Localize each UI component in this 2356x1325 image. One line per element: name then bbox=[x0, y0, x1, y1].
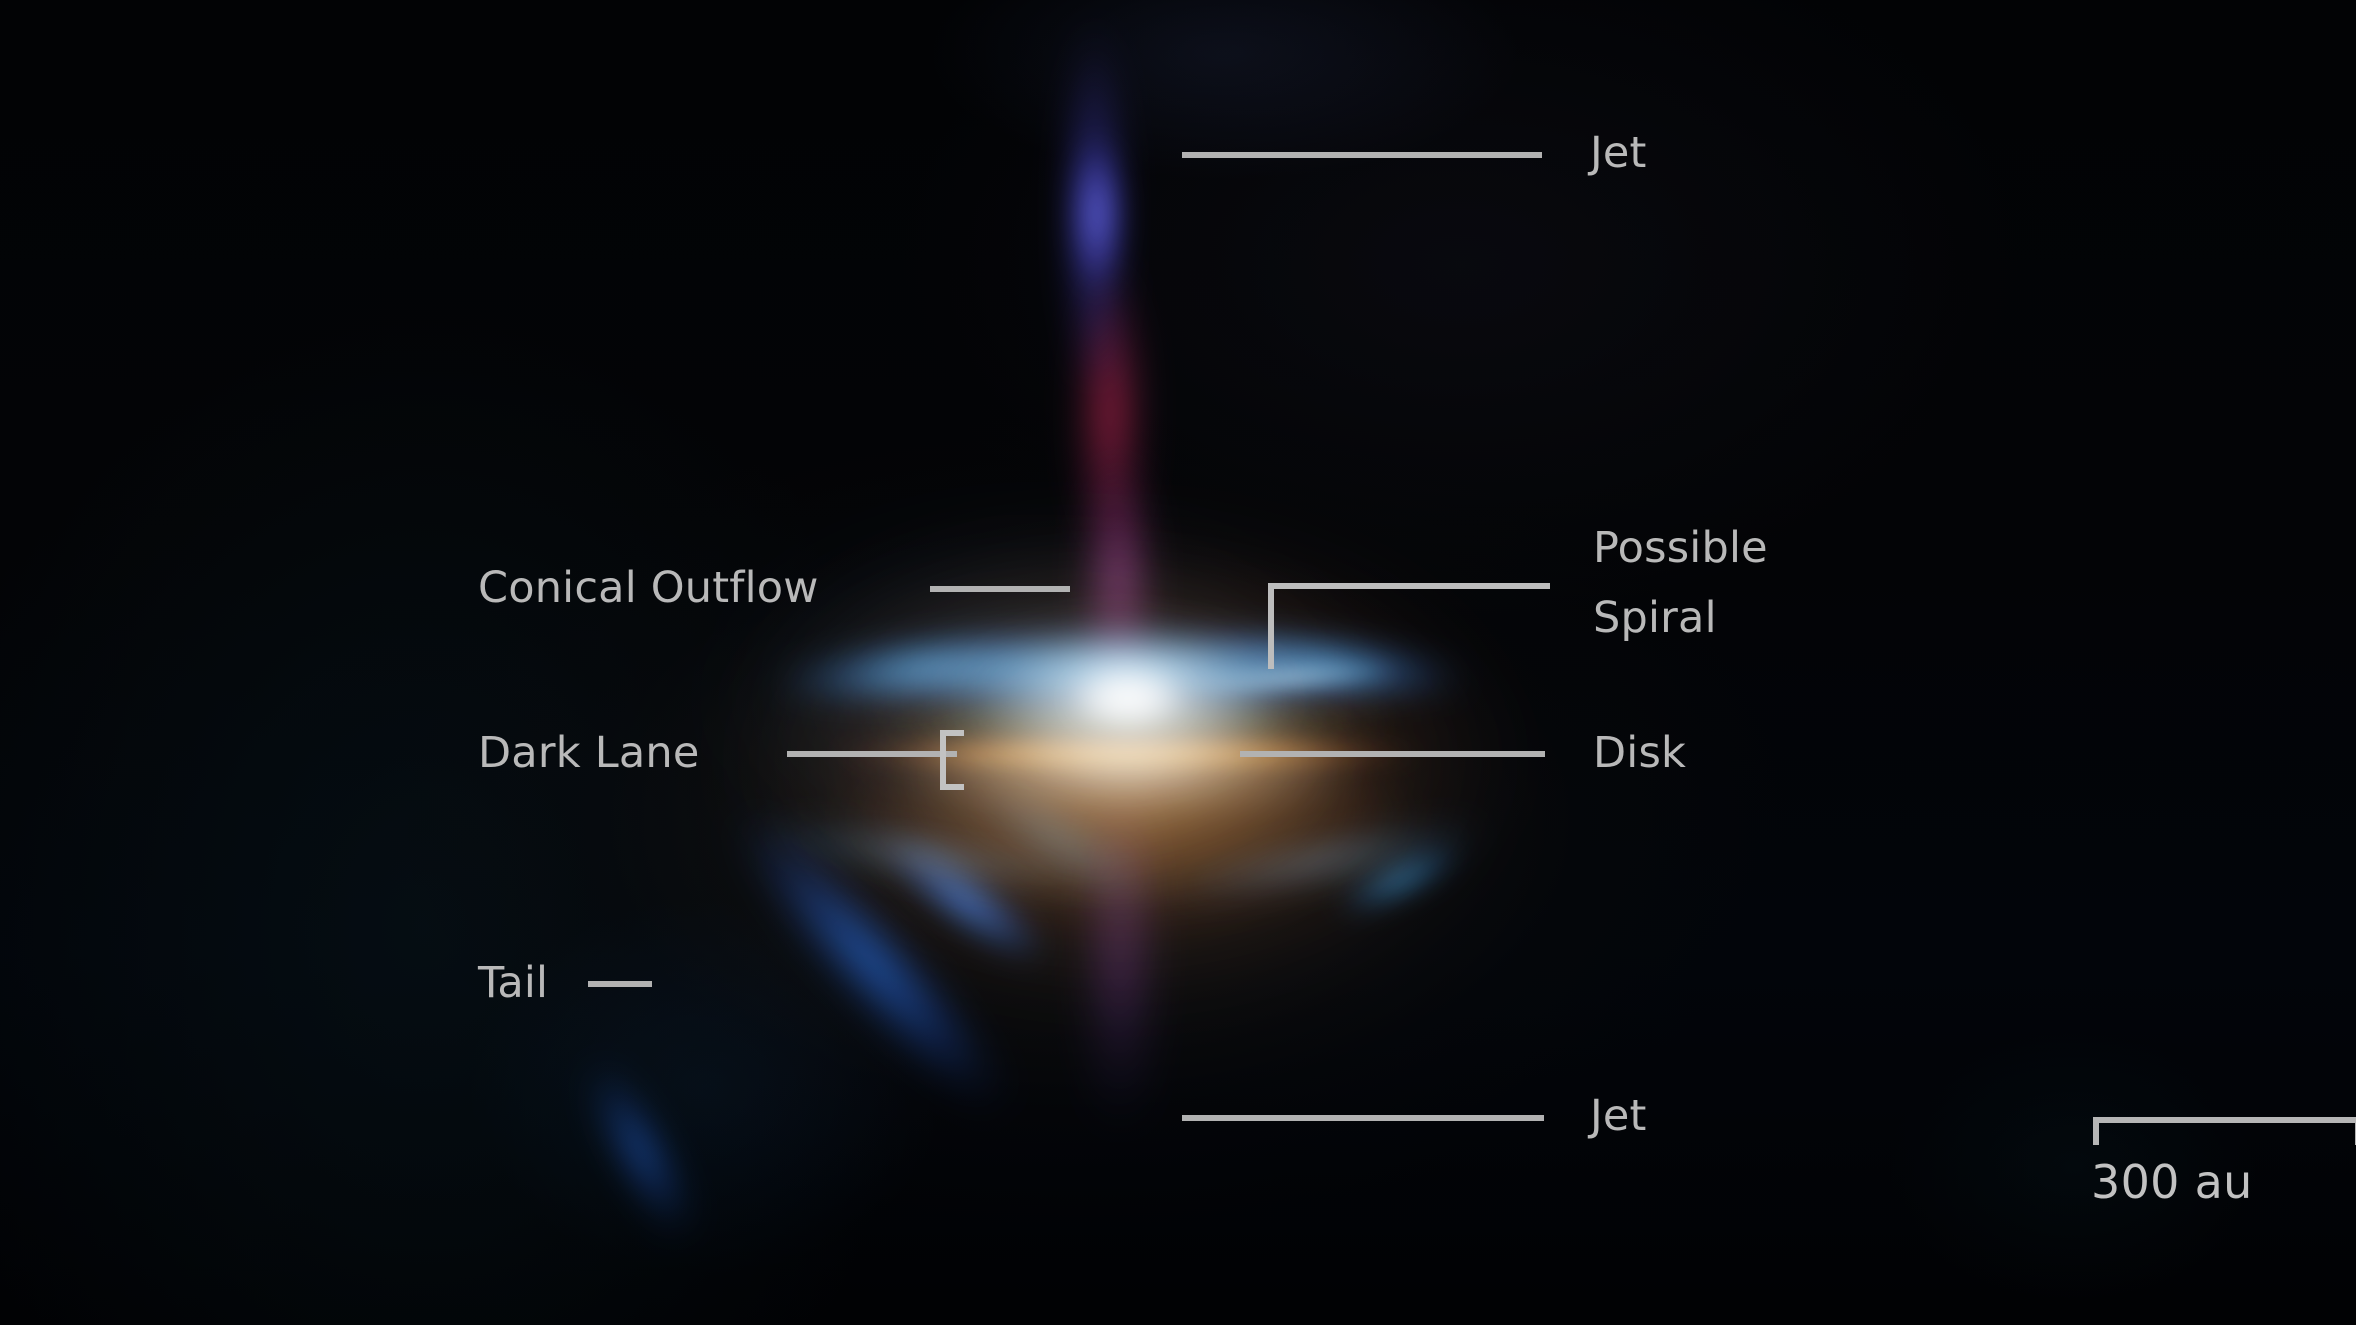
leader-bracket-dark-lane bbox=[940, 730, 964, 790]
sky-haze bbox=[0, 0, 2356, 1325]
label-jet-top: Jet bbox=[1590, 130, 1647, 177]
leader-line-dark-lane bbox=[787, 751, 957, 757]
leader-line-jet-bottom bbox=[1182, 1115, 1544, 1121]
label-conical-outflow: Conical Outflow bbox=[478, 565, 819, 612]
scale-bar-rule bbox=[2093, 1117, 2356, 1145]
label-possible-spiral-line2: Spiral bbox=[1593, 595, 1717, 642]
scale-bar-label: 300 au bbox=[2091, 1155, 2253, 1209]
leader-line-conical-outflow bbox=[930, 586, 1070, 592]
leader-line-tail bbox=[588, 981, 652, 987]
leader-line-disk bbox=[1240, 751, 1545, 757]
leader-line-jet-top bbox=[1182, 152, 1542, 158]
label-disk: Disk bbox=[1593, 730, 1686, 777]
label-tail: Tail bbox=[478, 960, 548, 1007]
label-jet-bottom: Jet bbox=[1590, 1093, 1647, 1140]
astronomy-image-canvas: Jet Conical Outflow Possible Spiral Dark… bbox=[0, 0, 2356, 1325]
leader-elbow-possible-spiral bbox=[1268, 583, 1550, 669]
label-dark-lane: Dark Lane bbox=[478, 730, 700, 777]
label-possible-spiral-line1: Possible bbox=[1593, 525, 1768, 572]
